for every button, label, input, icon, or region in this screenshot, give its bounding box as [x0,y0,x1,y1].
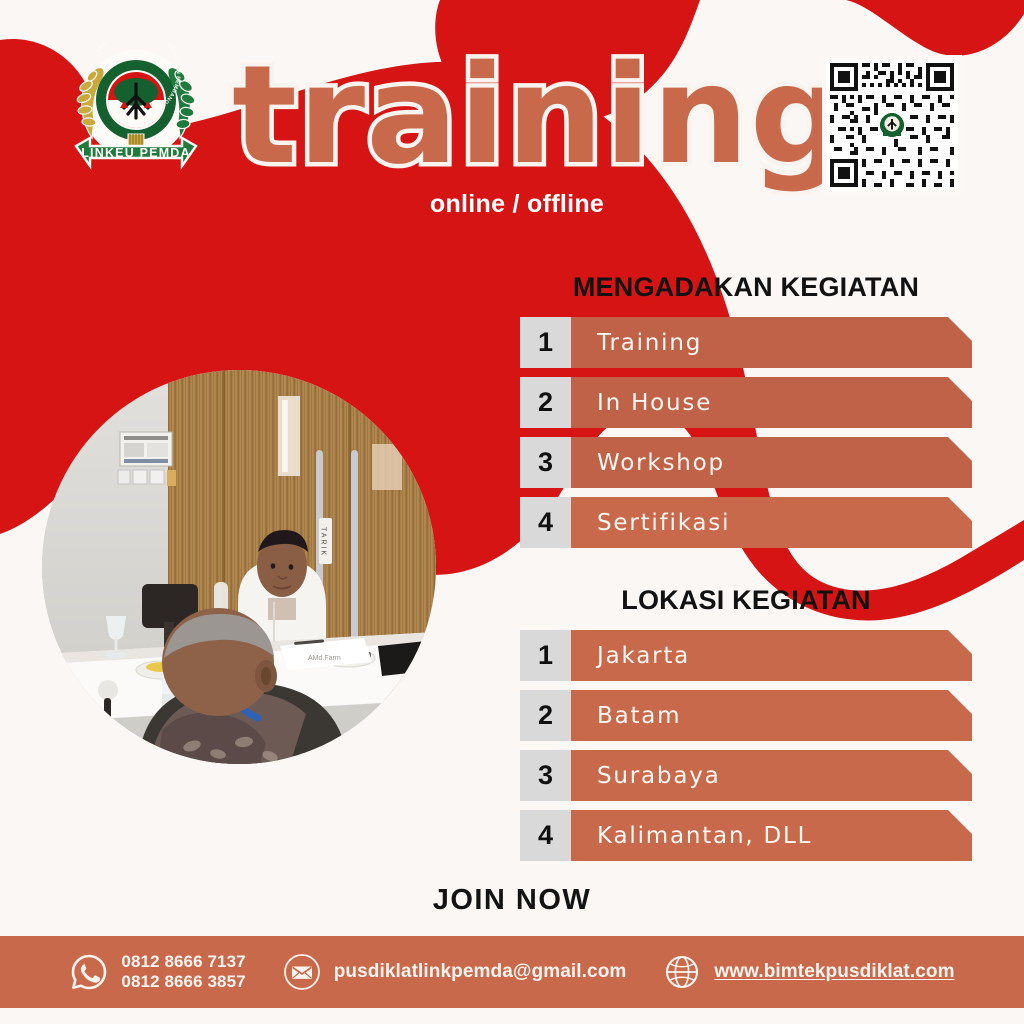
list-item[interactable]: 3 Workshop [520,437,972,488]
phone-line-1: 0812 8666 7137 [121,952,245,972]
logo-banner-text: LINKEU PEMDA [81,146,191,160]
website-url: www.bimtekpusdiklat.com [714,961,954,983]
join-now-label: JOIN NOW [433,884,592,917]
globe-icon [662,952,702,992]
list-item-label: Kalimantan, DLL [571,810,972,861]
list-item-number: 3 [520,437,571,488]
join-now-cta[interactable]: JOIN NOW [0,884,1024,917]
contact-email[interactable]: pusdiklatlinkpemda@gmail.com [282,952,627,992]
list-item-number: 4 [520,497,571,548]
phone-numbers: 0812 8666 7137 0812 8666 3857 [121,952,245,992]
list-item-label: Surabaya [571,750,972,801]
list-item[interactable]: 2 In House [520,377,972,428]
list-item-number: 2 [520,690,571,741]
list-item-label: Training [571,317,972,368]
organization-logo: LEMBAGA INFORMASI KEUANGAN DAN PEMBANGUN… [62,42,210,178]
list-item[interactable]: 4 Kalimantan, DLL [520,810,972,861]
section-heading-activities: MENGADAKAN KEGIATAN [520,272,972,303]
svg-text:AMd.Farm: AMd.Farm [308,655,341,662]
list-item-number: 1 [520,317,571,368]
list-item-label: In House [571,377,972,428]
list-item-label: Batam [571,690,972,741]
list-item-number: 3 [520,750,571,801]
list-item-label: Sertifikasi [571,497,972,548]
list-item[interactable]: 1 Training [520,317,972,368]
list-item-label: Jakarta [571,630,972,681]
meeting-photo: TARIK [42,370,436,764]
list-item-number: 2 [520,377,571,428]
list-item-label: Workshop [571,437,972,488]
list-item[interactable]: 1 Jakarta [520,630,972,681]
list-item-number: 4 [520,810,571,861]
page-title: training [232,48,802,184]
qr-code[interactable] [822,55,962,195]
contact-website[interactable]: www.bimtekpusdiklat.com [662,952,954,992]
email-icon [282,952,322,992]
list-item[interactable]: 4 Sertifikasi [520,497,972,548]
section-locations: LOKASI KEGIATAN 1 Jakarta 2 Batam 3 Sura… [520,585,972,870]
footer-contact-bar: 0812 8666 7137 0812 8666 3857 pusdiklatl… [0,936,1024,1008]
list-item[interactable]: 2 Batam [520,690,972,741]
phone-line-2: 0812 8666 3857 [121,972,245,992]
svg-text:TARIK: TARIK [320,527,327,557]
email-address: pusdiklatlinkpemda@gmail.com [334,961,627,983]
section-activities: MENGADAKAN KEGIATAN 1 Training 2 In Hous… [520,272,972,557]
poster-canvas: LEMBAGA INFORMASI KEUANGAN DAN PEMBANGUN… [0,0,1024,1024]
contact-phone[interactable]: 0812 8666 7137 0812 8666 3857 [69,952,245,992]
title-block: training online / offline [232,30,802,210]
section-heading-locations: LOKASI KEGIATAN [520,585,972,616]
list-item-number: 1 [520,630,571,681]
whatsapp-icon [69,952,109,992]
list-item[interactable]: 3 Surabaya [520,750,972,801]
